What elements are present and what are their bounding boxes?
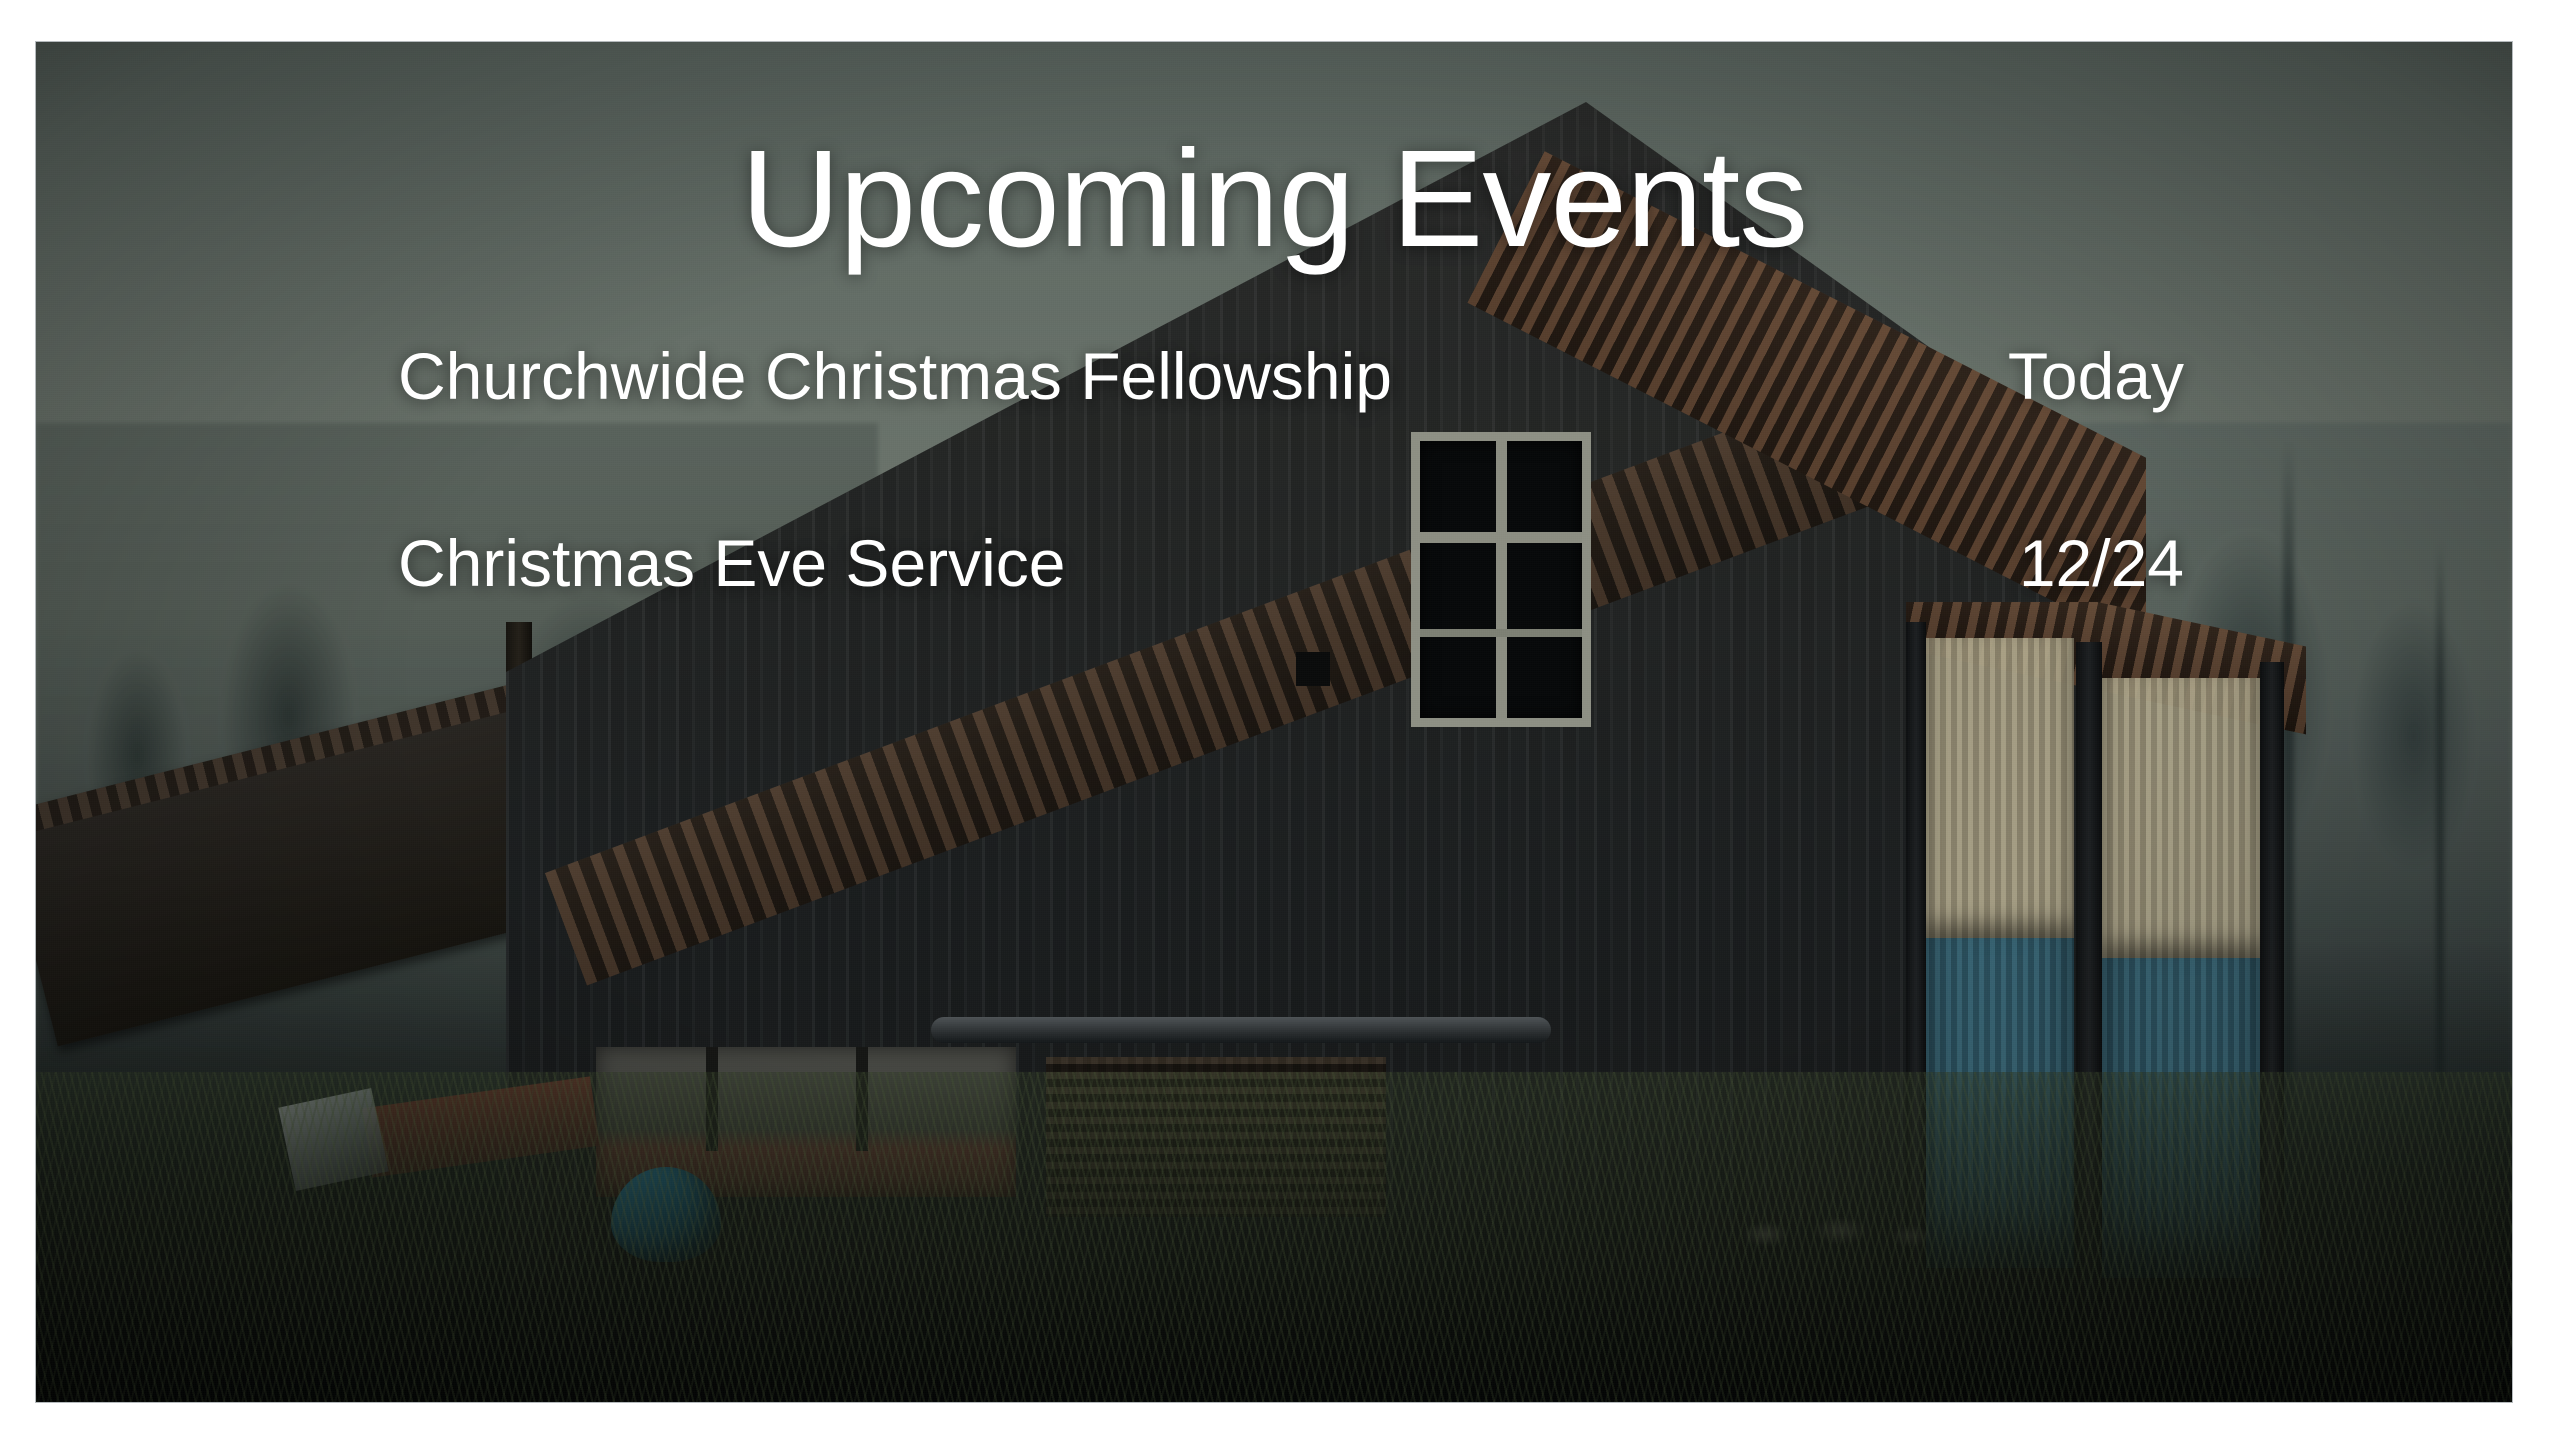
slide-text-layer: Upcoming Events Churchwide Christmas Fel…: [36, 42, 2512, 1402]
event-date: 12/24: [2019, 529, 2184, 598]
event-name: Christmas Eve Service: [398, 529, 1066, 598]
event-row: Christmas Eve Service 12/24: [398, 529, 2184, 598]
event-name: Churchwide Christmas Fellowship: [398, 342, 1392, 411]
event-date: Today: [2008, 342, 2184, 411]
event-row: Churchwide Christmas Fellowship Today: [398, 342, 2184, 411]
slide-title: Upcoming Events: [36, 130, 2512, 268]
presentation-slide: Upcoming Events Churchwide Christmas Fel…: [36, 42, 2512, 1402]
events-list: Churchwide Christmas Fellowship Today Ch…: [398, 342, 2184, 717]
